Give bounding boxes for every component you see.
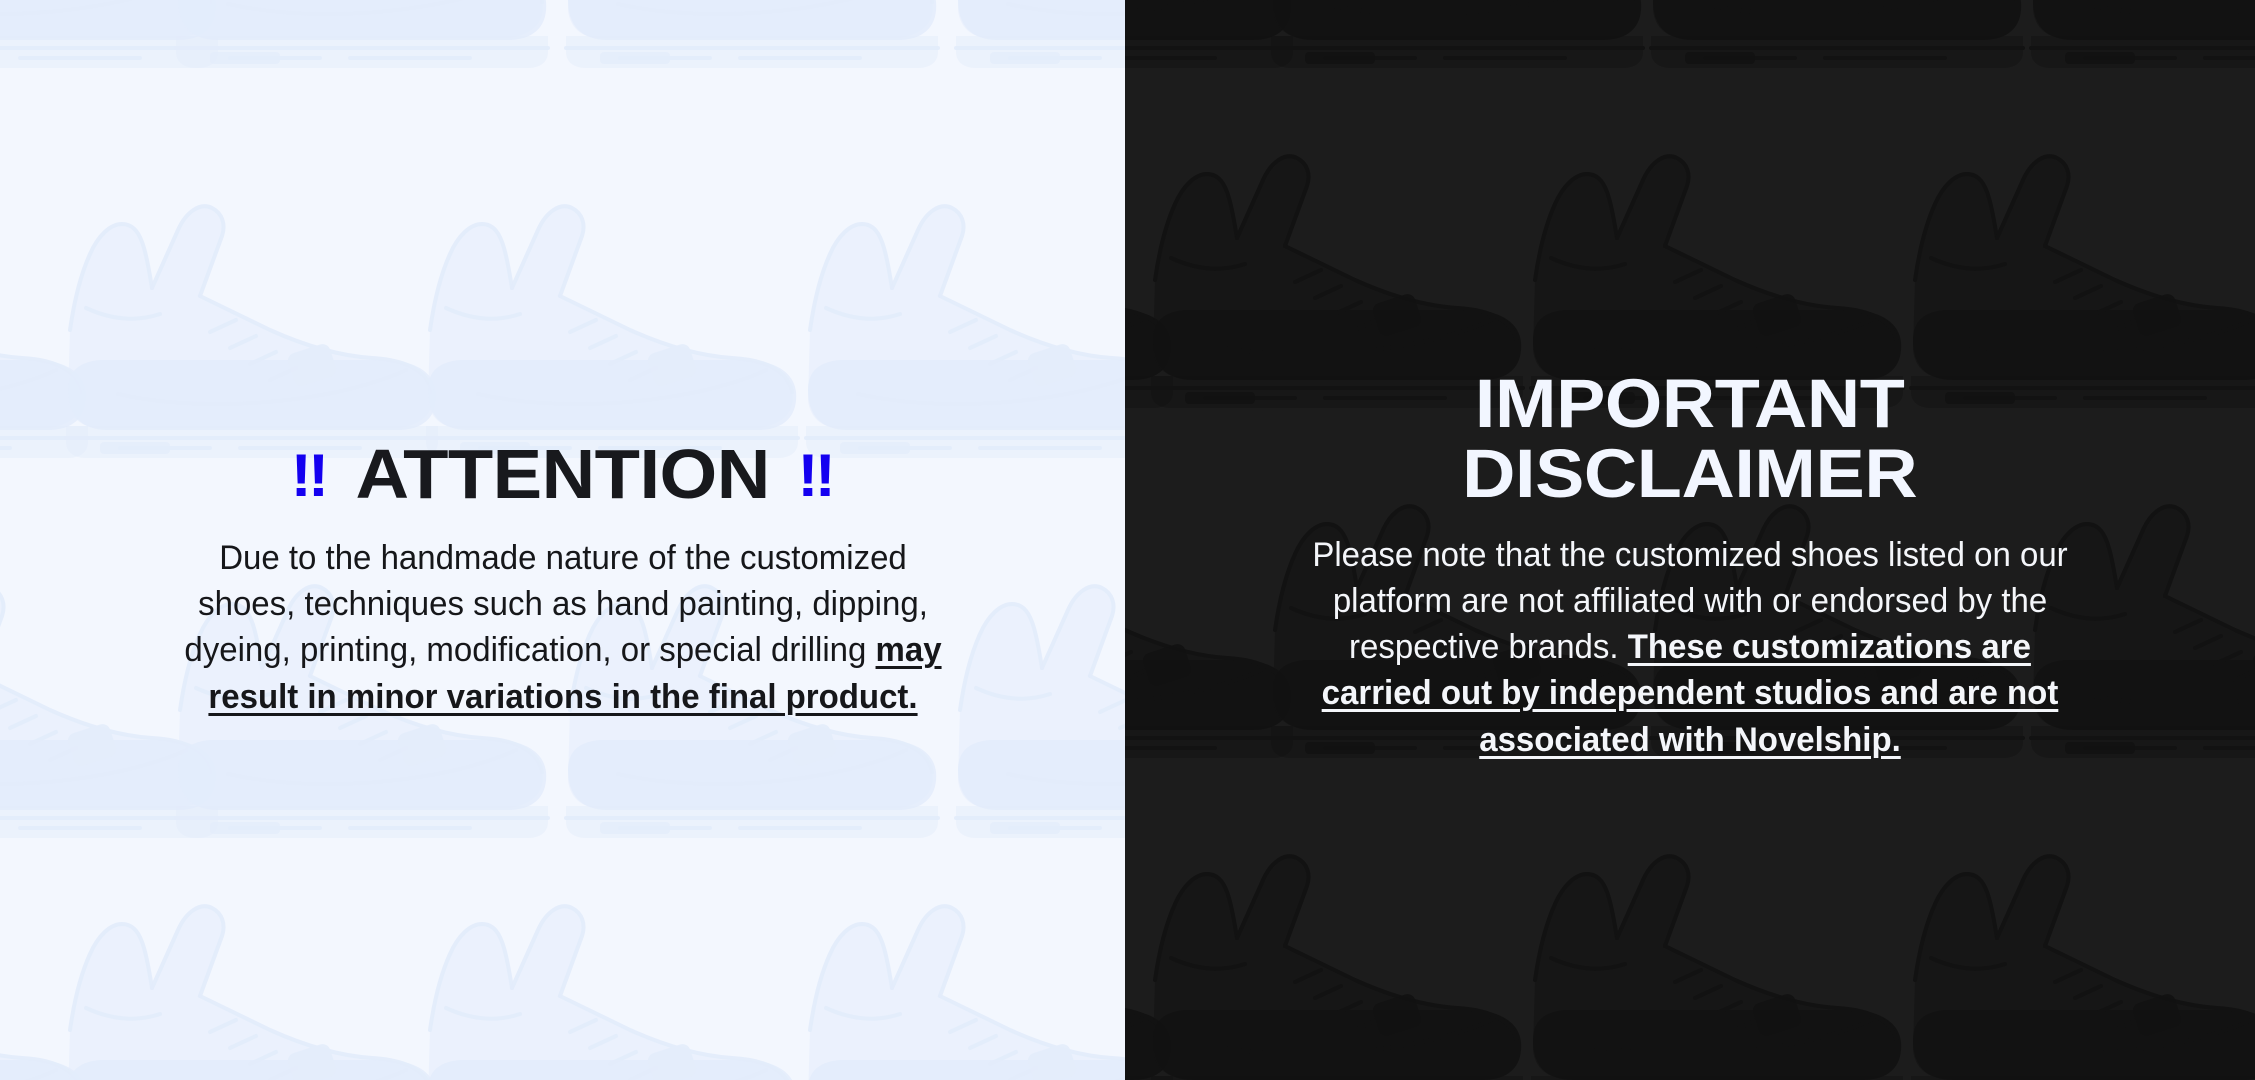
disclaimer-panel: IMPORTANT DISCLAIMER Please note that th…: [1125, 0, 2255, 1080]
disclaimer-heading-line2: DISCLAIMER: [1462, 439, 1917, 509]
double-exclamation-icon-left: ‼: [290, 446, 327, 506]
attention-heading-word: ATTENTION: [355, 440, 769, 509]
attention-heading: ‼ ATTENTION ‼: [290, 440, 834, 509]
customization-disclaimer-banner: ‼ ATTENTION ‼ Due to the handmade nature…: [0, 0, 2255, 1080]
double-exclamation-icon-right: ‼: [797, 446, 834, 506]
disclaimer-heading: IMPORTANT DISCLAIMER: [1462, 369, 1917, 510]
attention-body: Due to the handmade nature of the custom…: [179, 535, 945, 720]
disclaimer-heading-line1: IMPORTANT: [1462, 369, 1917, 439]
attention-panel: ‼ ATTENTION ‼ Due to the handmade nature…: [0, 0, 1125, 1080]
attention-body-normal: Due to the handmade nature of the custom…: [184, 539, 927, 669]
disclaimer-body: Please note that the customized shoes li…: [1302, 532, 2078, 763]
disclaimer-content: IMPORTANT DISCLAIMER Please note that th…: [1125, 0, 2255, 1080]
attention-content: ‼ ATTENTION ‼ Due to the handmade nature…: [0, 0, 1125, 1080]
